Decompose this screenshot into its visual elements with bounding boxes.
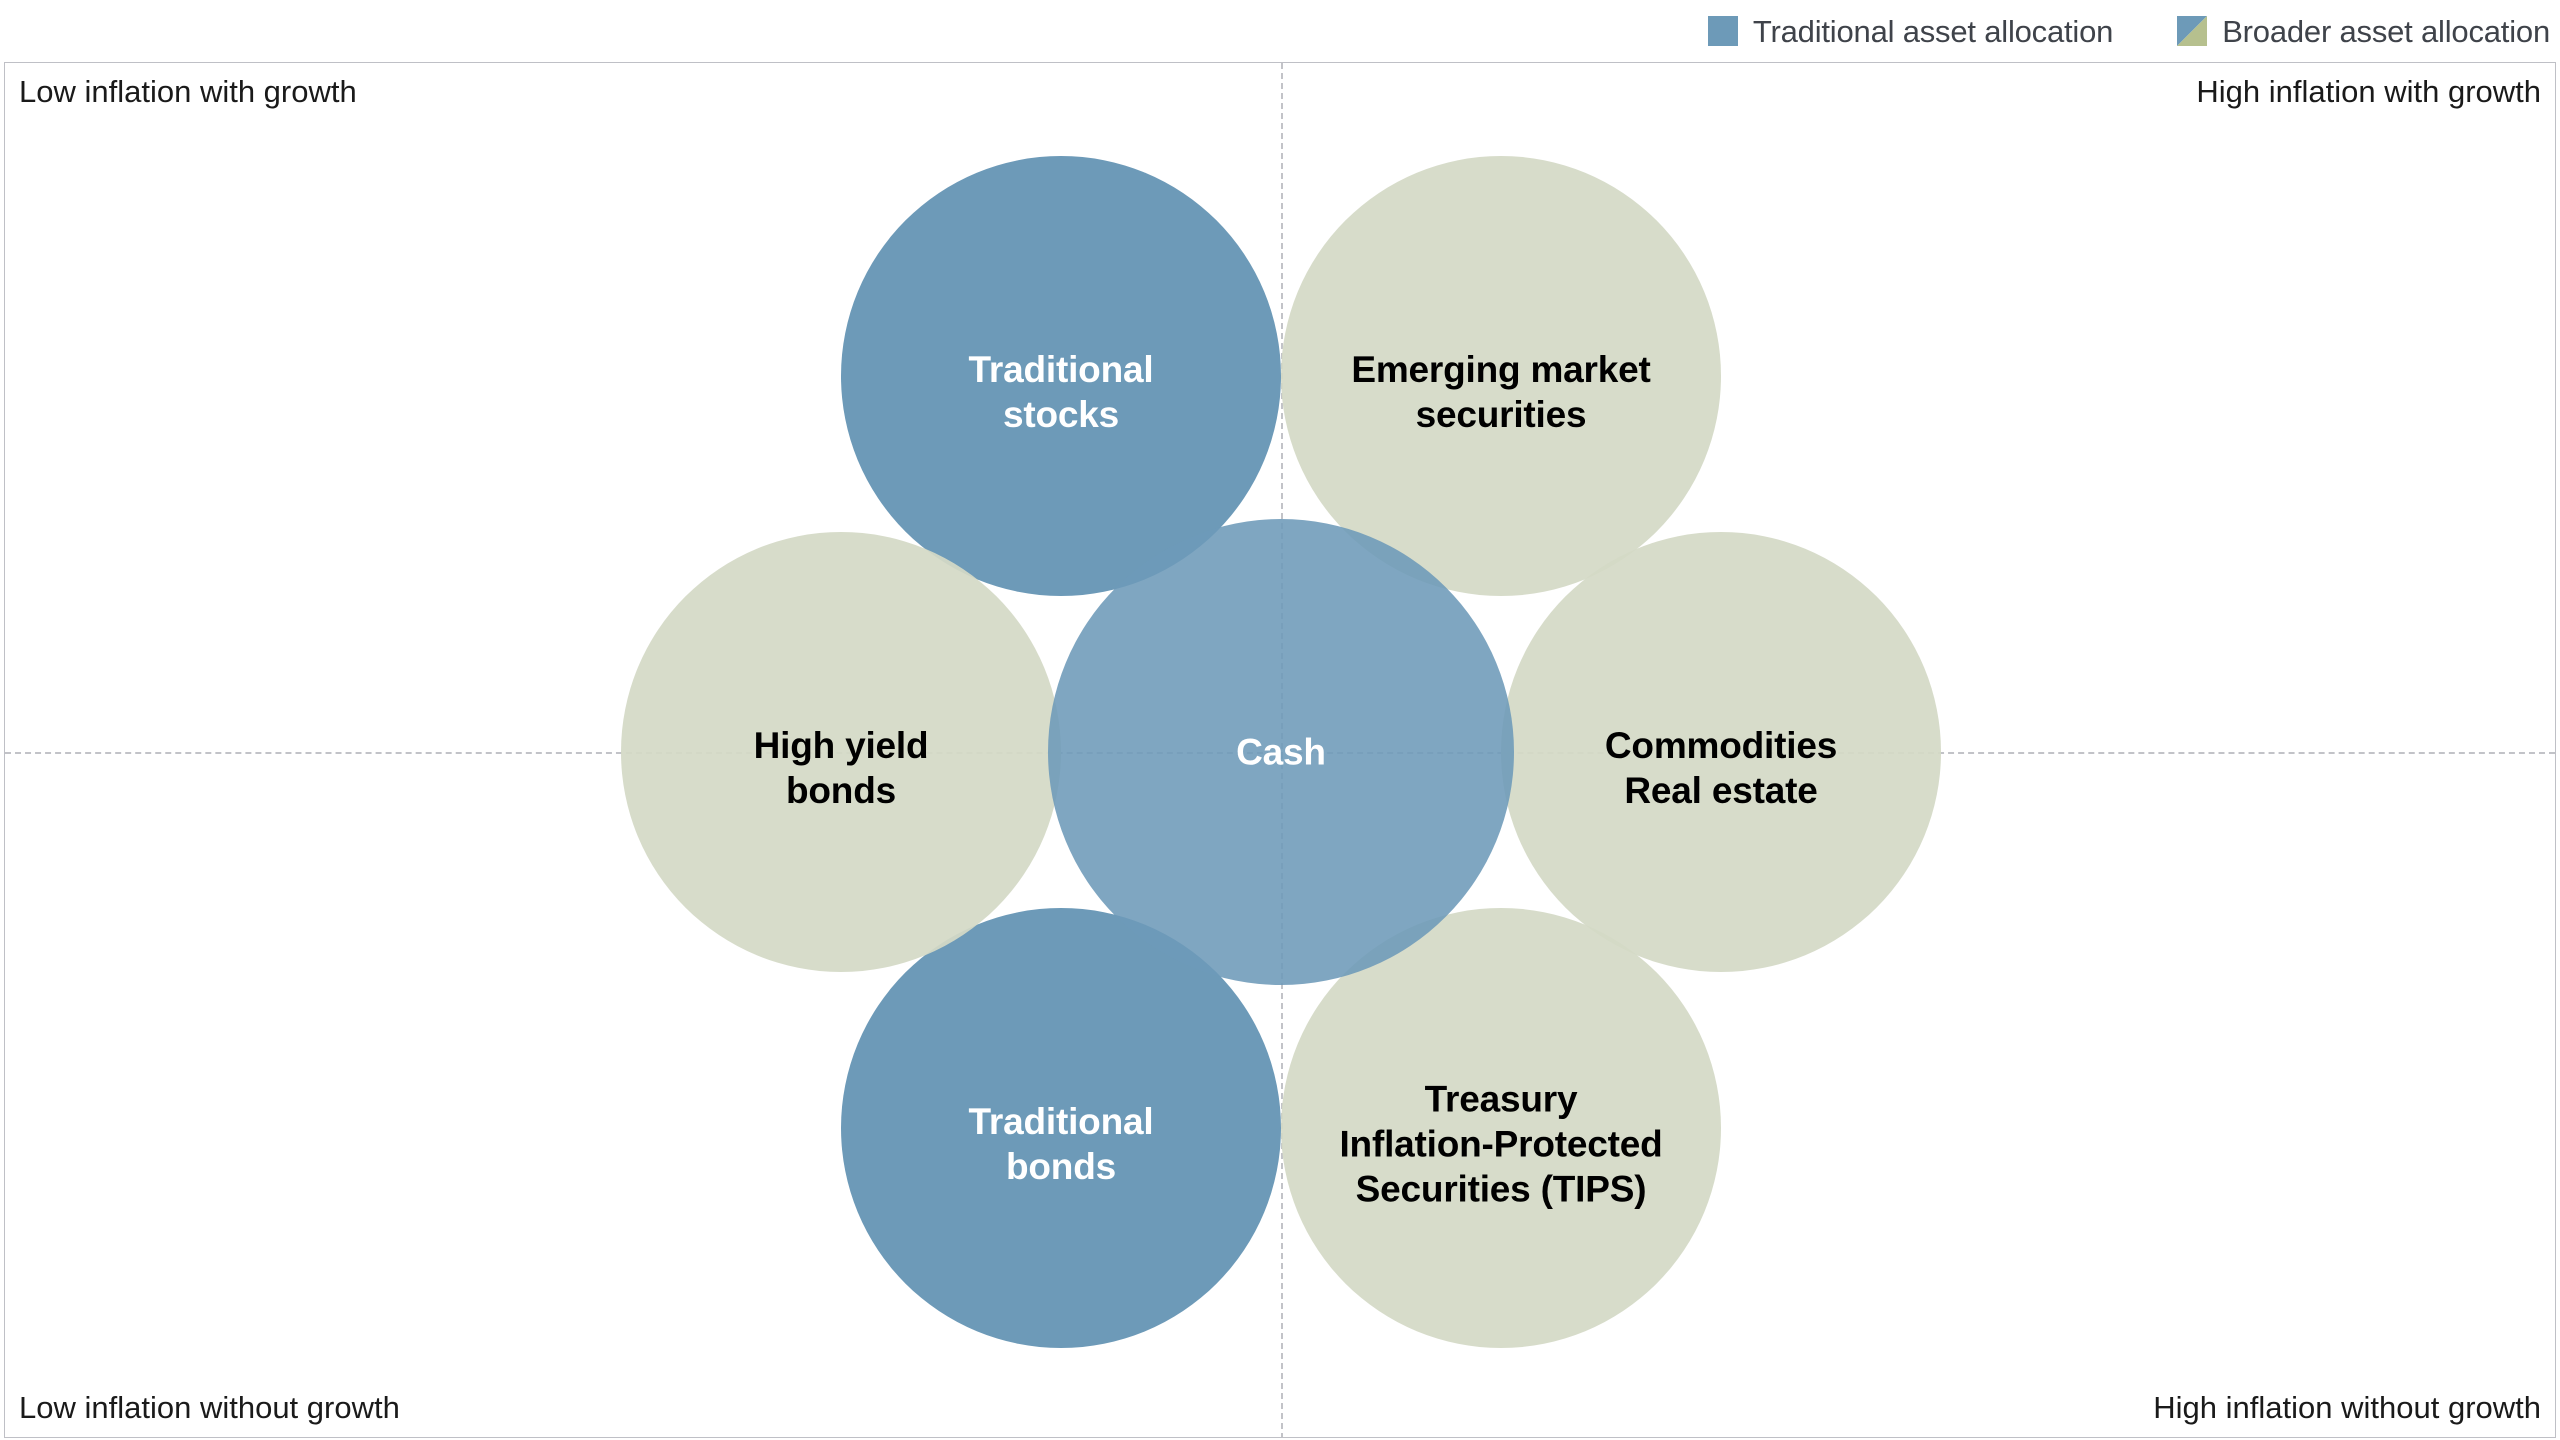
- legend-item-broader[interactable]: Broader asset allocation: [2177, 16, 2550, 47]
- venn-circle-commodities-real-estate[interactable]: [1501, 532, 1941, 972]
- diagonal-split-square-icon: [2177, 16, 2207, 46]
- venn-circles: [5, 63, 2556, 1438]
- venn-circle-cash[interactable]: [1048, 519, 1514, 985]
- legend-item-traditional[interactable]: Traditional asset allocation: [1708, 16, 2113, 47]
- legend-label-traditional: Traditional asset allocation: [1753, 16, 2113, 47]
- chart-legend: Traditional asset allocation Broader ass…: [0, 0, 2560, 62]
- venn-circle-high-yield-bonds[interactable]: [621, 532, 1061, 972]
- solid-blue-square-icon: [1708, 16, 1738, 46]
- legend-label-broader: Broader asset allocation: [2222, 16, 2550, 47]
- venn-diagram-page: Traditional asset allocation Broader ass…: [0, 0, 2560, 1440]
- plot-area: Low inflation with growth High inflation…: [4, 62, 2556, 1438]
